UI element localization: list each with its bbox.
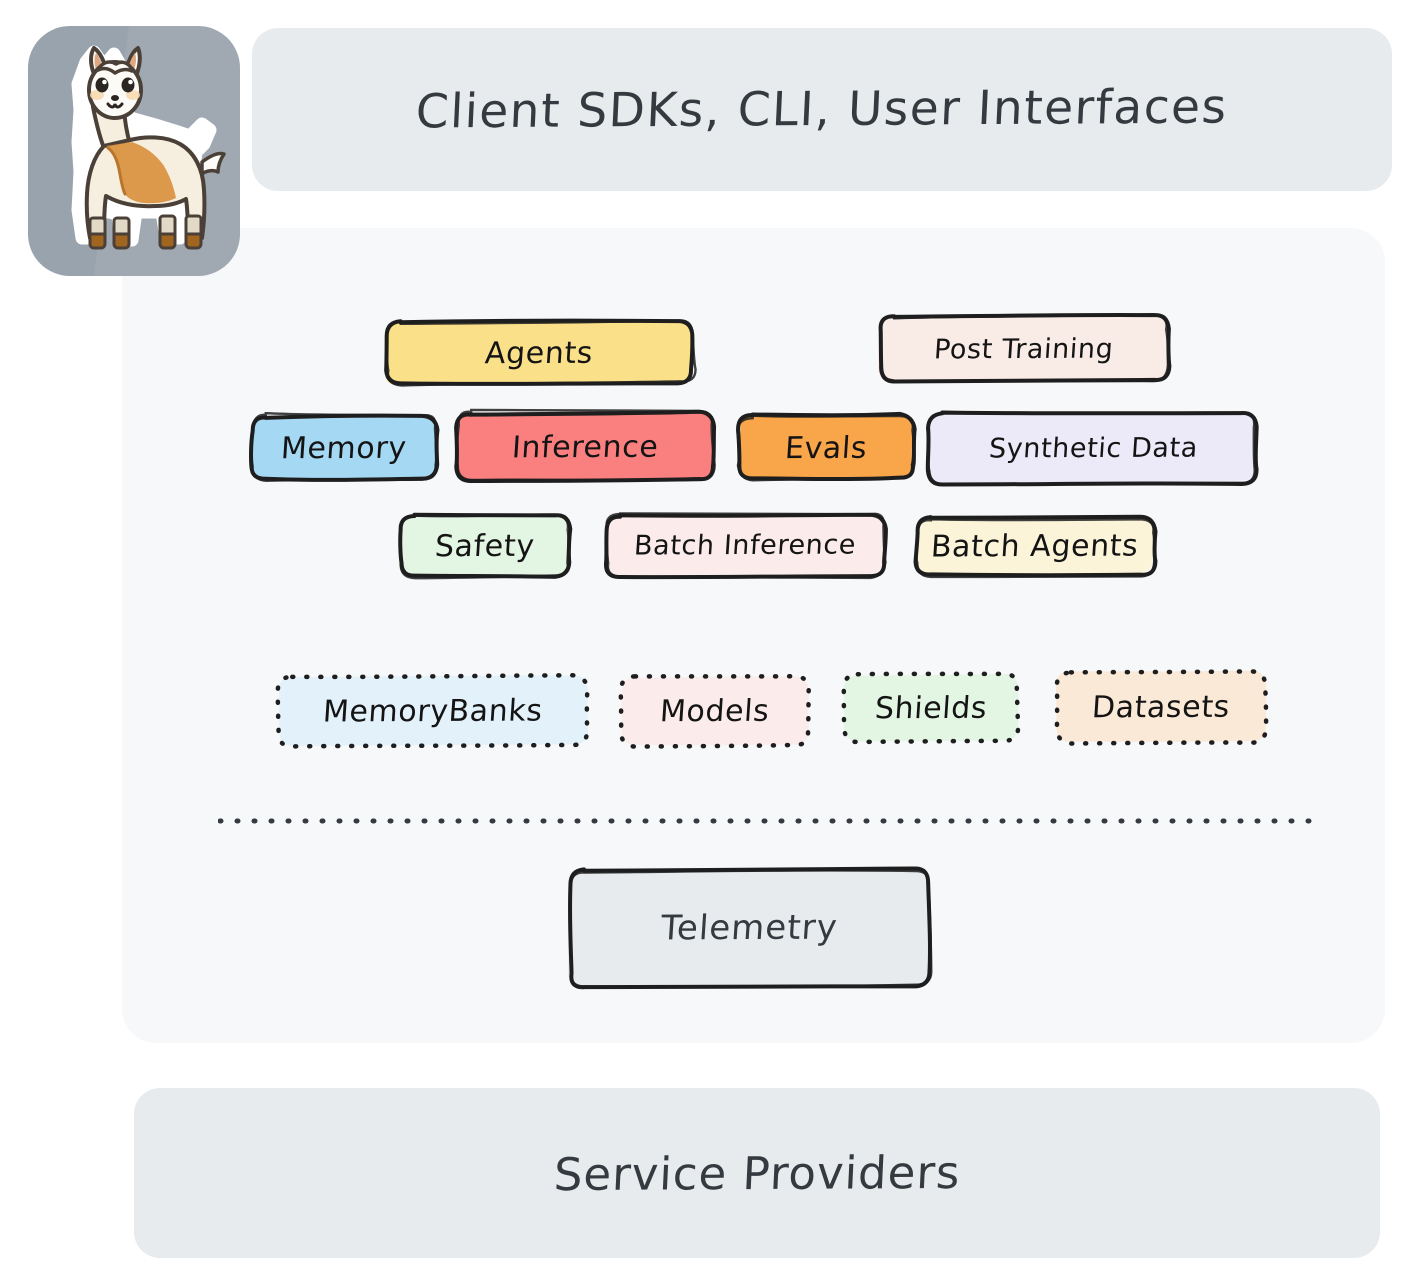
api-node-safety[interactable]: Safety <box>398 515 571 578</box>
api-node-evals[interactable]: Evals <box>738 414 914 483</box>
header-band: Client SDKs, CLI, User Interfaces <box>252 28 1392 191</box>
node-label: Evals <box>784 430 868 465</box>
api-node-inference[interactable]: Inference <box>456 410 714 483</box>
node-label: Telemetry <box>659 908 838 949</box>
resource-node-datasets[interactable]: Datasets <box>1055 670 1267 745</box>
node-label: Agents <box>484 335 594 370</box>
node-label: Shields <box>874 690 988 725</box>
header-title: Client SDKs, CLI, User Interfaces <box>415 80 1229 140</box>
footer-band: Service Providers <box>134 1088 1380 1258</box>
node-label: Inference <box>511 429 660 465</box>
api-node-synthetic-data[interactable]: Synthetic Data <box>928 411 1258 484</box>
node-label: Memory <box>280 430 408 466</box>
api-node-memory[interactable]: Memory <box>250 414 438 483</box>
telemetry-node-telemetry[interactable]: Telemetry <box>568 867 931 989</box>
node-label: Datasets <box>1091 689 1231 725</box>
node-label: Batch Agents <box>930 528 1140 564</box>
llama-logo-tile <box>28 26 240 276</box>
resource-node-models[interactable]: Models <box>620 675 810 748</box>
node-label: Batch Inference <box>633 529 857 561</box>
api-node-agents[interactable]: Agents <box>384 319 694 386</box>
node-label: Safety <box>434 528 536 563</box>
api-node-batch-inference[interactable]: Batch Inference <box>604 512 886 577</box>
node-label: Post Training <box>933 333 1114 365</box>
api-node-post-training[interactable]: Post Training <box>878 314 1170 383</box>
dotted-divider <box>218 818 1323 824</box>
api-node-batch-agents[interactable]: Batch Agents <box>915 515 1155 576</box>
resource-node-memorybanks[interactable]: MemoryBanks <box>277 674 589 747</box>
llama-logo-icon <box>34 32 234 270</box>
node-label: Synthetic Data <box>988 432 1199 464</box>
footer-title: Service Providers <box>553 1145 962 1200</box>
resource-node-shields[interactable]: Shields <box>843 673 1019 744</box>
diagram-canvas: Client SDKs, CLI, User Interfaces <box>0 0 1410 1268</box>
node-label: MemoryBanks <box>322 693 544 729</box>
node-label: Models <box>659 693 771 728</box>
